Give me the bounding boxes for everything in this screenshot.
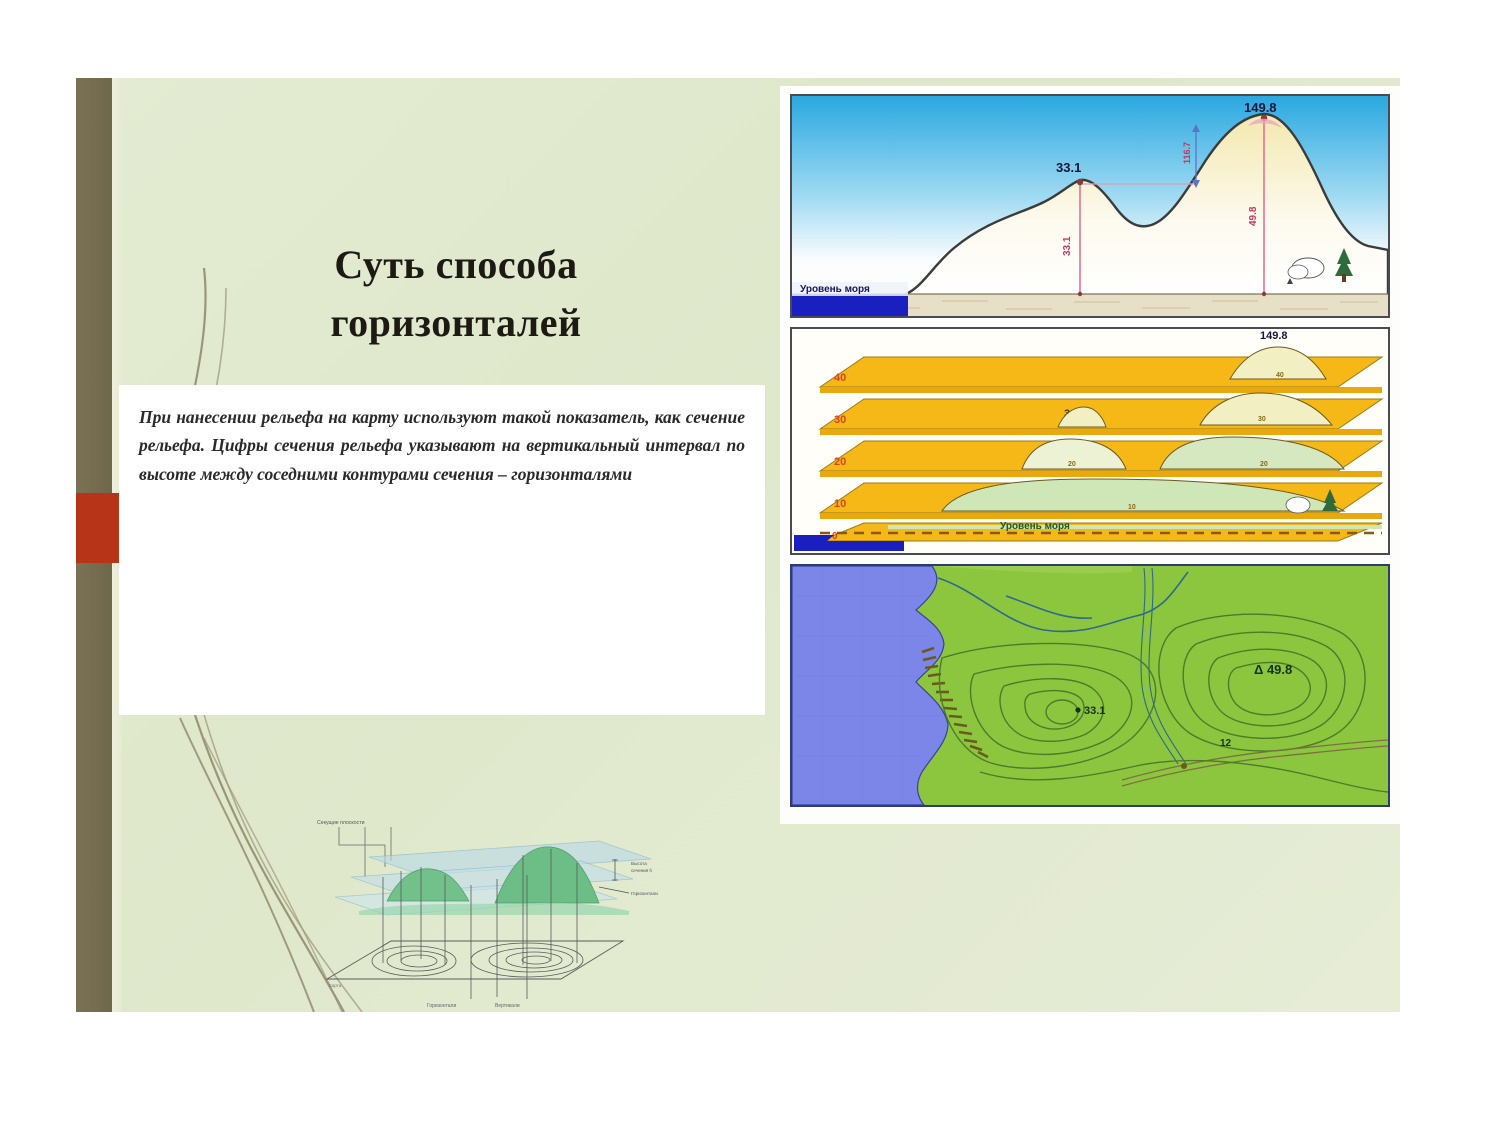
plane-contour-10: 10 — [1128, 504, 1136, 511]
title-line-1: Суть способа — [196, 236, 716, 294]
profile-measure-lower-label: 49.8 — [1248, 206, 1259, 226]
profile-peak-main-label: 149.8 — [1244, 100, 1277, 115]
block-label-map: Карта — [329, 983, 342, 988]
map-road-marker: 12 — [1220, 738, 1232, 749]
plane-label-10: 10 — [834, 498, 846, 510]
plane-label-0: 0 — [832, 531, 838, 542]
profile-measure-left-label: 33.1 — [1062, 236, 1073, 256]
block-label-contours: Горизонтали — [631, 891, 658, 896]
page-title: Суть способа горизонталей — [196, 236, 716, 352]
block-label-bottom-2: Вертикали — [495, 1003, 520, 1009]
plane-contour-20a: 20 — [1068, 461, 1076, 468]
profile-sea-level-label: Уровень моря — [800, 284, 870, 295]
block-diagram-figure: Секущие плоскости Высота — [299, 815, 679, 1010]
block-label-height-1: Высота — [631, 861, 647, 866]
plane-level-10: 10 10 — [820, 479, 1382, 519]
plane-contour-20b: 20 — [1260, 461, 1268, 468]
profile-peak-secondary-label: 33.1 — [1056, 160, 1081, 175]
figure-stack: Уровень моря 33.1 149.8 33.1 116.7 — [780, 86, 1400, 824]
planes-sea-level-label: Уровень моря — [1000, 521, 1070, 532]
slide-canvas: Суть способа горизонталей При нанесении … — [76, 78, 1400, 1012]
body-paragraph: При нанесении рельефа на карту использую… — [139, 403, 745, 488]
block-label-planes: Секущие плоскости — [317, 820, 365, 826]
title-line-2: горизонталей — [196, 294, 716, 352]
plane-level-20: 20 20 20 — [820, 437, 1382, 477]
map-spot-height-secondary: 33.1 — [1084, 705, 1105, 717]
plane-contour-40: 40 — [1276, 372, 1284, 379]
plane-contour-30a: 30 — [1258, 416, 1266, 423]
map-spot-height-triangulation: Δ 49.8 — [1254, 662, 1292, 677]
plane-label-20: 20 — [834, 456, 846, 468]
figure-topographic-map: 33.1 Δ 49.8 — [790, 564, 1390, 807]
figure-contour-planes: 40 149.8 40 30 30 33.1 — [790, 327, 1390, 555]
block-label-height-2: сечения h — [631, 868, 653, 873]
profile-measure-upper-label: 116.7 — [1182, 142, 1192, 164]
block-label-bottom-1: Горизонтали — [427, 1003, 456, 1009]
plane-label-30: 30 — [834, 414, 846, 426]
content-card: При нанесении рельефа на карту использую… — [119, 385, 765, 715]
plane-label-40: 40 — [834, 372, 846, 384]
planes-peak-main-label: 149.8 — [1260, 330, 1288, 342]
plane-level-30: 30 30 33.1 — [820, 393, 1382, 435]
figure-terrain-profile: Уровень моря 33.1 149.8 33.1 116.7 — [790, 94, 1390, 318]
